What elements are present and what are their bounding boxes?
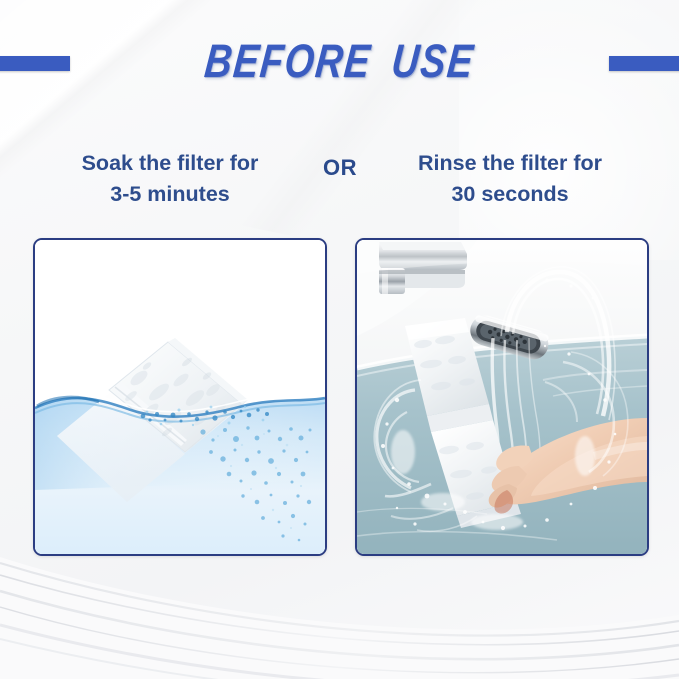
soak-filter-photo	[35, 240, 325, 554]
caption-separator-or: OR	[305, 154, 375, 182]
rinse-filter-photo	[357, 240, 647, 554]
rule-right	[609, 56, 679, 71]
header: BEFOREUSE	[0, 0, 679, 130]
rule-left	[0, 56, 70, 71]
caption-rinse-line1: Rinse the filter for	[370, 148, 650, 179]
panel-soak	[33, 238, 327, 556]
page-title-word-1: BEFORE	[202, 34, 373, 87]
panel-rinse	[355, 238, 649, 556]
infographic-page: BEFOREUSE Soak the filter for 3-5 minute…	[0, 0, 679, 679]
page-title-word-2: USE	[389, 34, 476, 87]
caption-rinse-line2: 30 seconds	[370, 179, 650, 210]
caption-rinse: Rinse the filter for 30 seconds	[370, 148, 650, 210]
caption-soak: Soak the filter for 3-5 minutes	[30, 148, 310, 210]
caption-soak-line2: 3-5 minutes	[30, 179, 310, 210]
caption-row: Soak the filter for 3-5 minutes OR Rinse…	[0, 148, 679, 220]
page-title: BEFOREUSE	[65, 34, 614, 88]
caption-soak-line1: Soak the filter for	[30, 148, 310, 179]
